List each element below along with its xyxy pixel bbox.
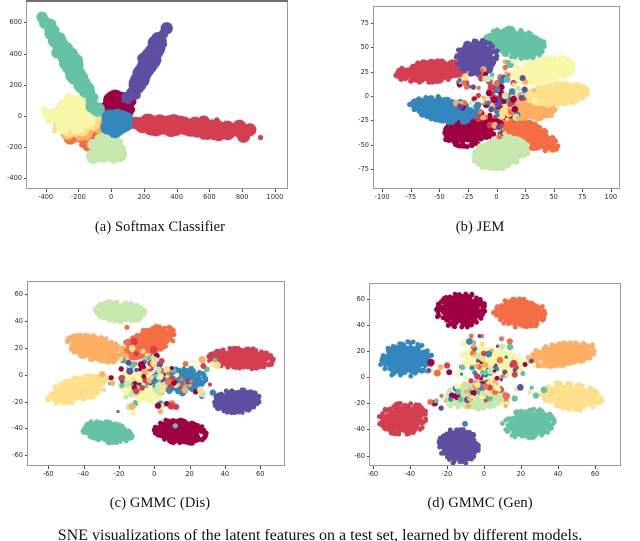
x-tick-label: -20 <box>441 470 452 478</box>
x-tick-mark <box>410 466 411 469</box>
x-tick-label: 20 <box>517 470 525 478</box>
x-tick-mark <box>595 466 596 469</box>
y-tick-mark <box>367 377 370 378</box>
y-tick-label: -60 <box>354 452 365 460</box>
panel-d: -60-40-2002040606040200-20-40-60(d) GMMC… <box>0 0 640 541</box>
y-tick-mark <box>367 429 370 430</box>
x-tick-mark <box>484 466 485 469</box>
x-tick-label: -60 <box>367 470 378 478</box>
x-tick-mark <box>521 466 522 469</box>
y-tick-mark <box>367 403 370 404</box>
clipped-top-edge <box>26 0 288 2</box>
y-tick-label: 40 <box>357 321 365 329</box>
plot-area-d <box>369 283 621 466</box>
tsne-figure-grid: -400-200020040060080010008006004002000-2… <box>0 0 640 541</box>
figure-caption: SNE visualizations of the latent feature… <box>0 527 640 541</box>
x-tick-label: 60 <box>591 470 599 478</box>
x-tick-label: 0 <box>482 470 486 478</box>
y-tick-mark <box>367 351 370 352</box>
x-tick-mark <box>447 466 448 469</box>
y-tick-label: 0 <box>361 373 365 381</box>
x-tick-label: -40 <box>404 470 415 478</box>
scatter-canvas-d <box>370 284 621 466</box>
x-tick-label: 40 <box>554 470 562 478</box>
y-tick-label: 20 <box>357 347 365 355</box>
x-tick-mark <box>373 466 374 469</box>
y-tick-label: 60 <box>357 295 365 303</box>
x-tick-mark <box>558 466 559 469</box>
y-tick-mark <box>367 325 370 326</box>
panel-caption-d: (d) GMMC (Gen) <box>320 495 640 512</box>
y-tick-label: -20 <box>354 399 365 407</box>
y-tick-mark <box>367 456 370 457</box>
y-tick-mark <box>367 299 370 300</box>
y-tick-label: -40 <box>354 425 365 433</box>
